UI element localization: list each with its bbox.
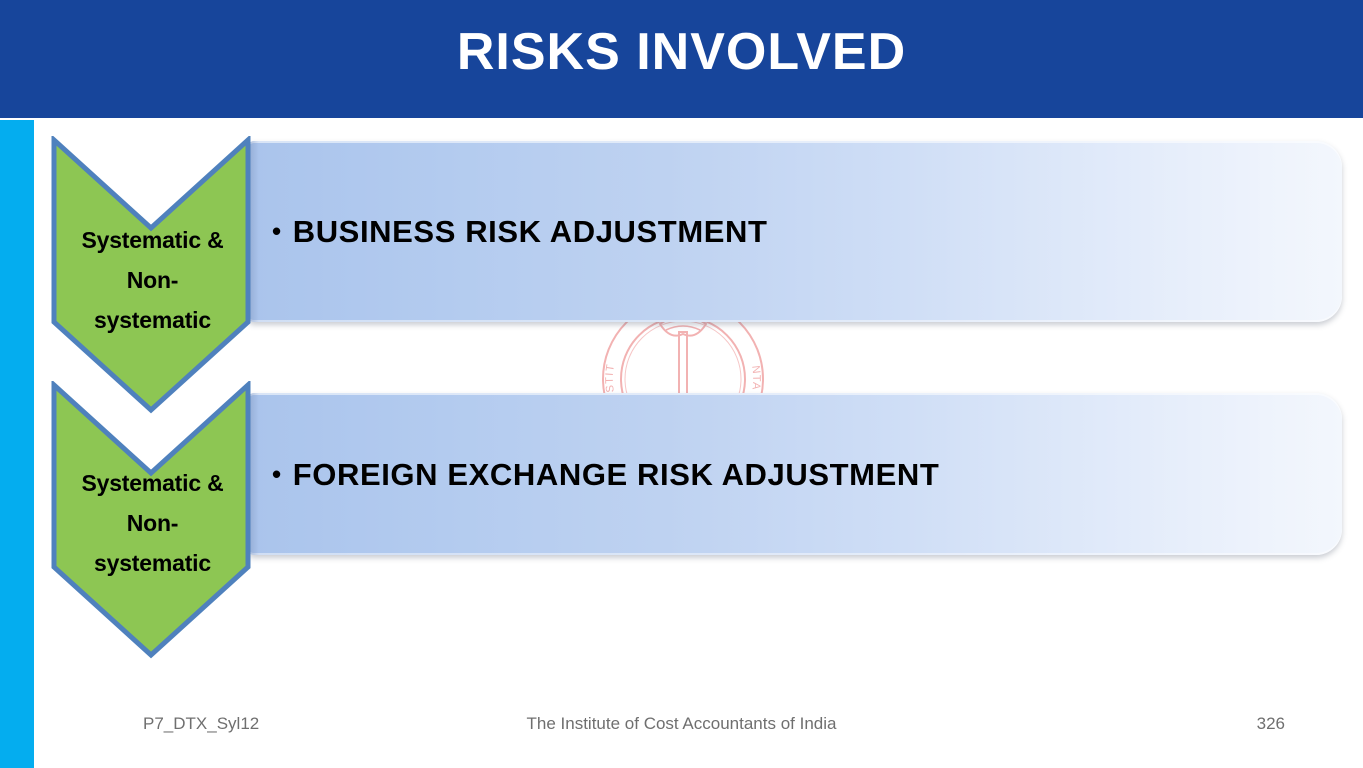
footer-page-number: 326 xyxy=(1257,714,1285,734)
chevron-label-1: Systematic & Non- systematic xyxy=(50,220,255,340)
chevron-label-1-line3: systematic xyxy=(50,300,255,340)
slide-footer: P7_DTX_Syl12 The Institute of Cost Accou… xyxy=(0,714,1363,750)
footer-institute-name: The Institute of Cost Accountants of Ind… xyxy=(0,714,1363,734)
content-bar-2-text: •FOREIGN EXCHANGE RISK ADJUSTMENT xyxy=(272,455,939,493)
content-bar-2-label: FOREIGN EXCHANGE RISK ADJUSTMENT xyxy=(293,457,940,492)
content-bar-1-text: •BUSINESS RISK ADJUSTMENT xyxy=(272,212,768,250)
page-title: RISKS INVOLVED xyxy=(0,22,1363,82)
bullet-icon: • xyxy=(272,216,282,247)
left-accent-strip xyxy=(0,120,34,768)
chevron-label-2-line3: systematic xyxy=(50,543,255,583)
chevron-label-1-line2: Non- xyxy=(50,260,255,300)
chevron-label-2-line2: Non- xyxy=(50,503,255,543)
content-bar-1-label: BUSINESS RISK ADJUSTMENT xyxy=(293,214,768,249)
chevron-label-2-line1: Systematic & xyxy=(50,463,255,503)
chevron-label-2: Systematic & Non- systematic xyxy=(50,463,255,583)
bullet-icon: • xyxy=(272,459,282,490)
chevron-label-1-line1: Systematic & xyxy=(50,220,255,260)
slide-canvas: RISKS INVOLVED STITUTE O NTANTS O •BUSIN… xyxy=(0,0,1363,768)
